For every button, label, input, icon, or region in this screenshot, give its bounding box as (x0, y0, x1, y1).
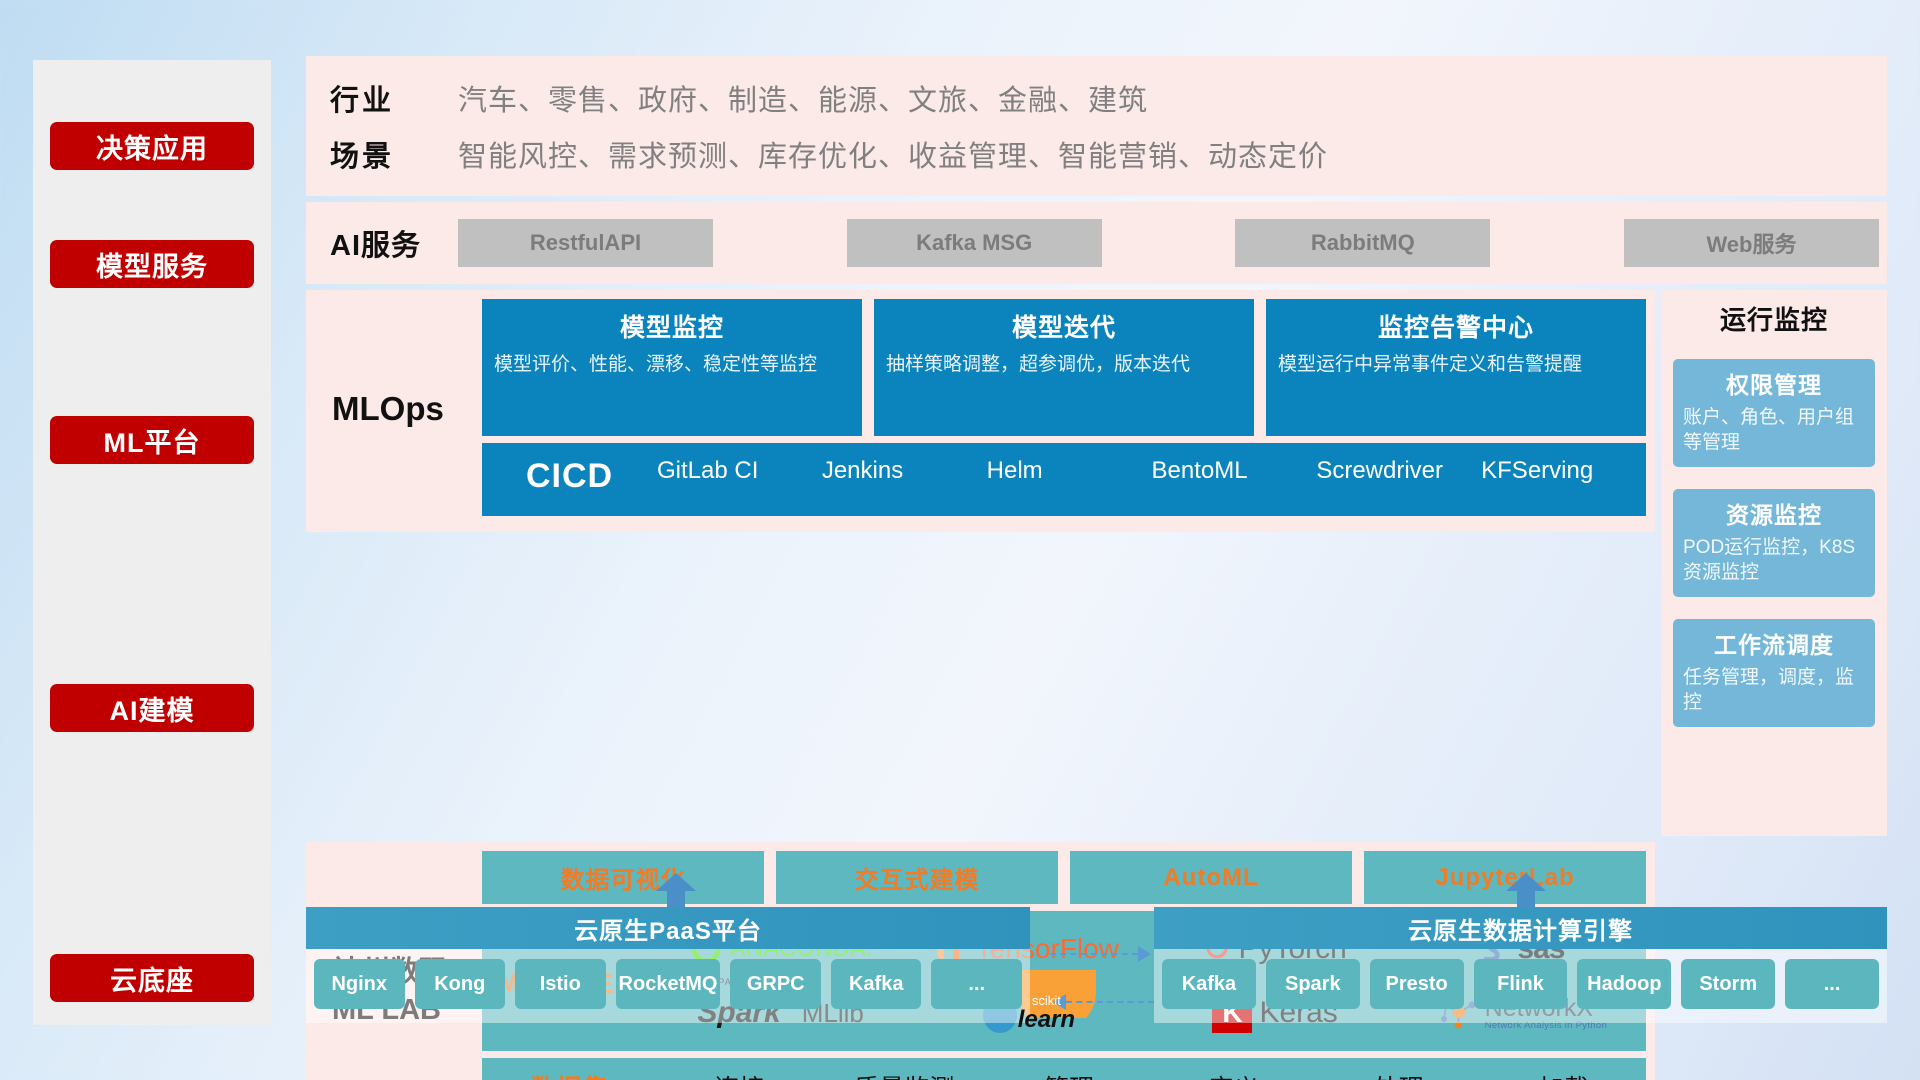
compute-title: 云原生数据计算引擎 (1154, 907, 1887, 949)
connector-dash-bottom (1066, 1001, 1154, 1003)
mlops-card-model-monitoring[interactable]: 模型监控 模型评价、性能、漂移、稳定性等监控 (482, 299, 862, 436)
card-title: 工作流调度 (1683, 626, 1865, 660)
cloud-native-compute-group: 云原生数据计算引擎 Kafka Spark Presto Flink Hadoo… (1154, 907, 1887, 1023)
compute-chip-more[interactable]: ... (1785, 959, 1879, 1009)
ai-services-label: AI服务 (330, 222, 458, 264)
compute-chip-flink[interactable]: Flink (1474, 959, 1568, 1009)
dataset-row: 数据集 连接 质量监测 管理 定义 处理 加载 (482, 1058, 1646, 1080)
dataset-label: 数据集 (482, 1069, 657, 1080)
cicd-item-helm[interactable]: Helm (987, 457, 1152, 485)
stage-chip-ml-platform[interactable]: ML平台 (50, 416, 254, 464)
cloud-foundation-row: 云原生PaaS平台 Nginx Kong Istio RocketMQ GRPC… (306, 895, 1887, 1045)
paas-chip-nginx[interactable]: Nginx (314, 959, 405, 1009)
paas-chip-kong[interactable]: Kong (415, 959, 506, 1009)
card-title: 模型迭代 (886, 308, 1242, 344)
card-title: 模型监控 (494, 308, 850, 344)
monitor-card-resources[interactable]: 资源监控 POD运行监控，K8S资源监控 (1673, 489, 1875, 597)
compute-chip-presto[interactable]: Presto (1370, 959, 1464, 1009)
connector-dash-top (1050, 953, 1138, 955)
card-title: 监控告警中心 (1278, 308, 1634, 344)
dataset-item-process[interactable]: 处理 (1316, 1069, 1481, 1080)
dataset-item-quality[interactable]: 质量监测 (822, 1069, 987, 1080)
scenario-row: 场景 智能风控、需求预测、库存优化、收益管理、智能营销、动态定价 (330, 126, 1887, 182)
card-desc: 任务管理，调度，监控 (1683, 665, 1865, 716)
scenario-label: 场景 (330, 133, 458, 175)
stage-chip-cloud-base[interactable]: 云底座 (50, 954, 254, 1002)
card-desc: 抽样策略调整，超参调优，版本迭代 (886, 352, 1242, 378)
card-desc: 模型评价、性能、漂移、稳定性等监控 (494, 352, 850, 378)
dataset-item-define[interactable]: 定义 (1151, 1069, 1316, 1080)
service-box-kafka-msg[interactable]: Kafka MSG (847, 219, 1102, 267)
cloud-native-paas-group: 云原生PaaS平台 Nginx Kong Istio RocketMQ GRPC… (306, 907, 1030, 1023)
scenario-values: 智能风控、需求预测、库存优化、收益管理、智能营销、动态定价 (458, 133, 1328, 175)
dataset-item-manage[interactable]: 管理 (987, 1069, 1152, 1080)
cicd-bar: CICD GitLab CI Jenkins Helm BentoML Scre… (482, 443, 1646, 516)
compute-chip-hadoop[interactable]: Hadoop (1577, 959, 1671, 1009)
card-title: 权限管理 (1683, 366, 1865, 400)
scikit-logo-text: scikit (1018, 992, 1075, 1007)
paas-chip-istio[interactable]: Istio (515, 959, 606, 1009)
compute-chip-storm[interactable]: Storm (1681, 959, 1775, 1009)
mlops-card-alert-center[interactable]: 监控告警中心 模型运行中异常事件定义和告警提醒 (1266, 299, 1646, 436)
card-desc: POD运行监控，K8S资源监控 (1683, 535, 1865, 586)
mlops-panel: MLOps 模型监控 模型评价、性能、漂移、稳定性等监控 模型迭代 抽样策略调整… (306, 290, 1655, 532)
compute-chip-kafka[interactable]: Kafka (1162, 959, 1256, 1009)
industry-label: 行业 (330, 77, 458, 119)
service-box-restfulapi[interactable]: RestfulAPI (458, 219, 713, 267)
monitor-card-permissions[interactable]: 权限管理 账户、角色、用户组等管理 (1673, 359, 1875, 467)
runtime-monitoring-panel: 运行监控 权限管理 账户、角色、用户组等管理 资源监控 POD运行监控，K8S资… (1661, 290, 1887, 836)
paas-up-arrow (656, 873, 696, 907)
mlops-label: MLOps (306, 290, 482, 428)
cicd-item-kfserving[interactable]: KFServing (1481, 457, 1646, 485)
paas-chip-grpc[interactable]: GRPC (730, 959, 821, 1009)
learn-logo-text: learn (1018, 1007, 1075, 1033)
card-desc: 账户、角色、用户组等管理 (1683, 405, 1865, 456)
paas-chip-rocketmq[interactable]: RocketMQ (616, 959, 721, 1009)
cicd-item-bentoml[interactable]: BentoML (1151, 457, 1316, 485)
monitoring-title: 运行监控 (1673, 300, 1875, 337)
card-desc: 模型运行中异常事件定义和告警提醒 (1278, 352, 1634, 378)
stage-chip-model-serving[interactable]: 模型服务 (50, 240, 254, 288)
cicd-item-jenkins[interactable]: Jenkins (822, 457, 987, 485)
decision-applications-band: 行业 汽车、零售、政府、制造、能源、文旅、金融、建筑 场景 智能风控、需求预测、… (306, 56, 1887, 196)
service-box-rabbitmq[interactable]: RabbitMQ (1235, 219, 1490, 267)
ai-services-band: AI服务 RestfulAPI Kafka MSG RabbitMQ Web服务 (306, 202, 1887, 284)
card-title: 资源监控 (1683, 496, 1865, 530)
stage-chip-ai-modeling[interactable]: AI建模 (50, 684, 254, 732)
ml-platform-band: MLOps 模型监控 模型评价、性能、漂移、稳定性等监控 模型迭代 抽样策略调整… (306, 290, 1887, 836)
industry-values: 汽车、零售、政府、制造、能源、文旅、金融、建筑 (458, 77, 1148, 119)
paas-chip-kafka[interactable]: Kafka (831, 959, 922, 1009)
paas-chip-more[interactable]: ... (931, 959, 1022, 1009)
cicd-item-screwdriver[interactable]: Screwdriver (1316, 457, 1481, 485)
dataset-item-connect[interactable]: 连接 (657, 1069, 822, 1080)
dataset-item-load[interactable]: 加载 (1481, 1069, 1646, 1080)
service-box-web[interactable]: Web服务 (1624, 219, 1879, 267)
stage-rail: 决策应用 模型服务 ML平台 AI建模 云底座 (33, 60, 271, 1025)
compute-up-arrow (1506, 873, 1546, 907)
mlops-card-model-iteration[interactable]: 模型迭代 抽样策略调整，超参调优，版本迭代 (874, 299, 1254, 436)
paas-title: 云原生PaaS平台 (306, 907, 1030, 949)
stage-chip-decision[interactable]: 决策应用 (50, 122, 254, 170)
compute-chip-spark[interactable]: Spark (1266, 959, 1360, 1009)
cicd-label: CICD (482, 457, 657, 496)
industry-row: 行业 汽车、零售、政府、制造、能源、文旅、金融、建筑 (330, 70, 1887, 126)
cicd-item-gitlab-ci[interactable]: GitLab CI (657, 457, 822, 485)
connector-arrow-right (1138, 946, 1151, 962)
monitor-card-workflow[interactable]: 工作流调度 任务管理，调度，监控 (1673, 619, 1875, 727)
